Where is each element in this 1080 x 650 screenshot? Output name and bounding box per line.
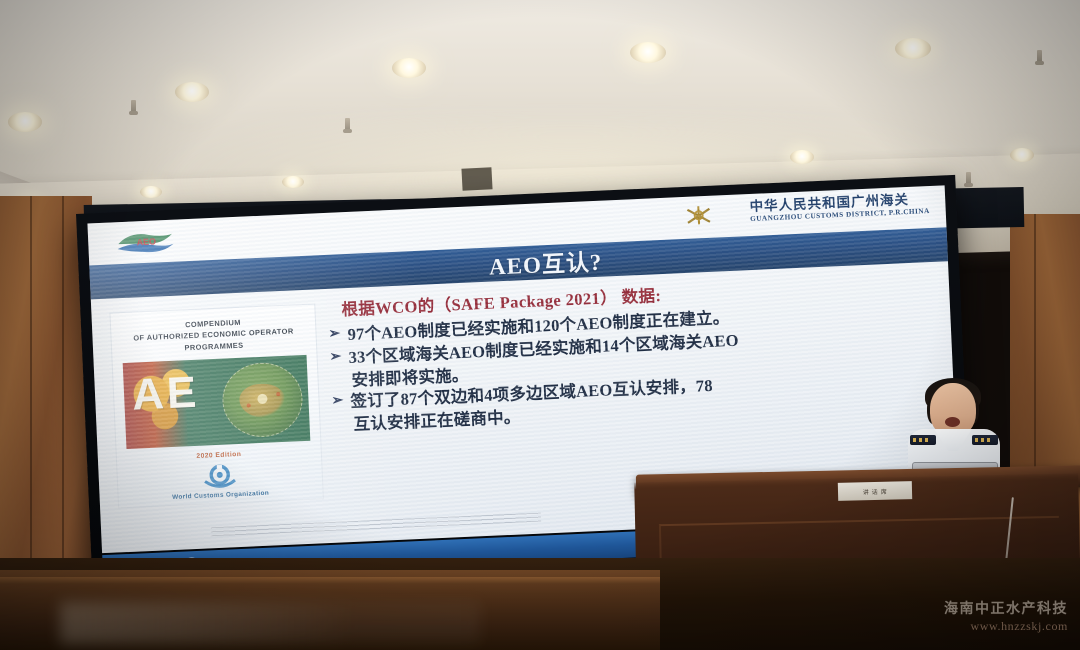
slide-title: AEO互认? — [488, 243, 603, 282]
cover-letter: A — [131, 376, 164, 415]
ceiling-downlight — [790, 150, 814, 164]
ceiling-downlight — [8, 112, 42, 132]
ceiling-downlight — [282, 176, 304, 188]
sprinkler-head — [345, 118, 350, 130]
bullet-marker-icon: ➢ — [331, 392, 344, 413]
cover-globe-icon — [221, 362, 304, 439]
bullet-marker-icon: ➢ — [329, 347, 342, 368]
speaker-mouth — [945, 417, 960, 427]
bullet-marker-icon: ➢ — [328, 324, 341, 345]
sprinkler-head — [1037, 50, 1042, 62]
cover-letter: E — [166, 374, 197, 413]
slide-copyright-fineprint — [211, 513, 541, 537]
ceiling-vent — [461, 167, 492, 191]
podium-nameplate: 讲 话 席 — [838, 481, 912, 501]
ceiling-downlight — [895, 38, 931, 59]
svg-text:AEO: AEO — [136, 236, 156, 247]
floor-reflection — [60, 602, 480, 644]
customs-header: 中华人民共和国广州海关 GUANGZHOU CUSTOMS DISTRICT, … — [749, 192, 930, 223]
ceiling-downlight — [140, 186, 162, 198]
customs-caduceus-emblem-icon — [683, 204, 714, 227]
sprinkler-head — [966, 172, 971, 184]
book-title: COMPENDIUM OF AUTHORIZED ECONOMIC OPERAT… — [110, 304, 316, 356]
ceiling-downlight — [630, 42, 666, 63]
ceiling-downlight — [175, 82, 209, 102]
conference-hall-photo: AEO 中华人民共和国广州海关 GUANGZHOU CUSTOMS DISTRI… — [0, 0, 1080, 650]
ceiling-downlight — [1010, 148, 1034, 162]
slide-bullet-list: ➢ 97个AEO制度已经实施和120个AEO制度正在建立。 ➢ 33个区域海关A… — [328, 297, 952, 436]
book-cover-artwork: A E — [123, 355, 311, 449]
speaker-epaulette-left — [910, 435, 936, 445]
wco-branding: World Customs Organization — [117, 460, 322, 504]
speaker-epaulette-right — [972, 435, 998, 445]
cover-letters: A E — [131, 374, 197, 415]
ceiling-downlight — [392, 58, 426, 78]
wco-logo-icon — [199, 463, 240, 491]
wco-compendium-cover: COMPENDIUM OF AUTHORIZED ECONOMIC OPERAT… — [109, 303, 324, 508]
sprinkler-head — [131, 100, 136, 112]
aeo-logo-icon: AEO — [114, 228, 177, 259]
floor-trim — [0, 577, 660, 584]
